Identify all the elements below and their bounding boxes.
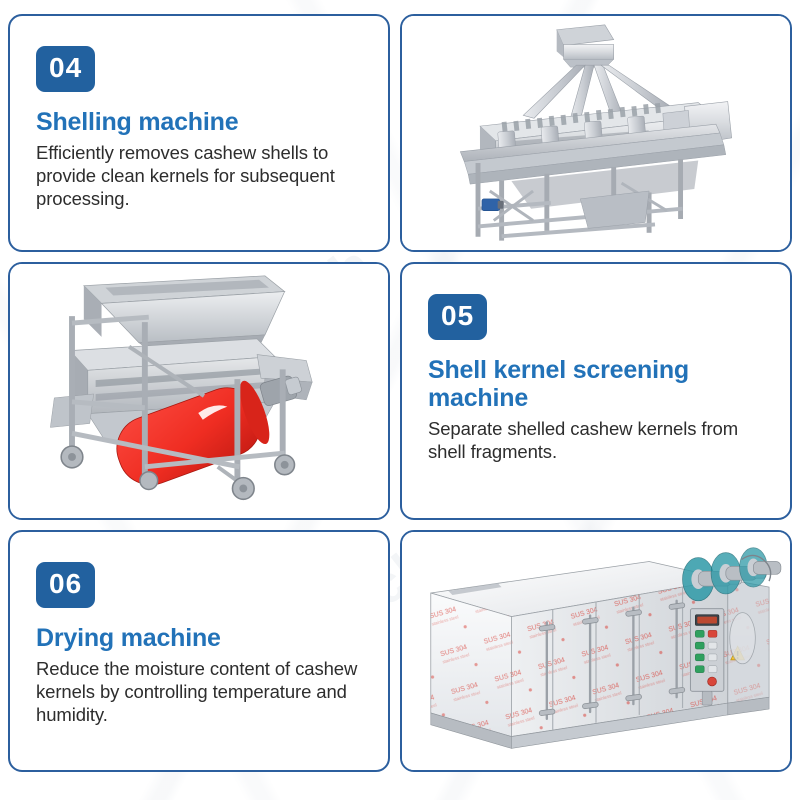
card-04-description: Efficiently removes cashew shells to pro… xyxy=(36,142,362,211)
shell-kernel-screening-machine-photo xyxy=(10,264,388,518)
drying-machine-photo-card: SUS 304 stainless steel xyxy=(400,530,792,772)
card-05-badge: 05 xyxy=(428,294,487,340)
emergency-stop-button xyxy=(708,677,717,686)
card-06-text: 06 Drying machine Reduce the moisture co… xyxy=(8,530,390,772)
card-05-text: 05 Shell kernel screening machine Separa… xyxy=(400,262,792,520)
shelling-machine-photo-card xyxy=(400,14,792,252)
card-06-description: Reduce the moisture content of cashew ke… xyxy=(36,658,362,727)
card-05-content: 05 Shell kernel screening machine Separa… xyxy=(402,264,790,474)
card-06-title: Drying machine xyxy=(36,624,362,652)
card-04-content: 04 Shelling machine Efficiently removes … xyxy=(10,16,388,221)
card-06-content: 06 Drying machine Reduce the moisture co… xyxy=(10,532,388,737)
cashew-shelling-machine-photo xyxy=(402,16,790,250)
card-04-text: 04 Shelling machine Efficiently removes … xyxy=(8,14,390,252)
cashew-drying-machine-photo: SUS 304 stainless steel xyxy=(402,532,790,770)
card-04-badge: 04 xyxy=(36,46,95,92)
card-05-description: Separate shelled cashew kernels from she… xyxy=(428,418,764,464)
infographic-page: ShangMech ShangMech 04 Shelling machine … xyxy=(0,0,800,800)
card-04-title: Shelling machine xyxy=(36,108,362,136)
screening-machine-photo-card xyxy=(8,262,390,520)
card-06-badge: 06 xyxy=(36,562,95,608)
card-05-title: Shell kernel screening machine xyxy=(428,356,764,412)
